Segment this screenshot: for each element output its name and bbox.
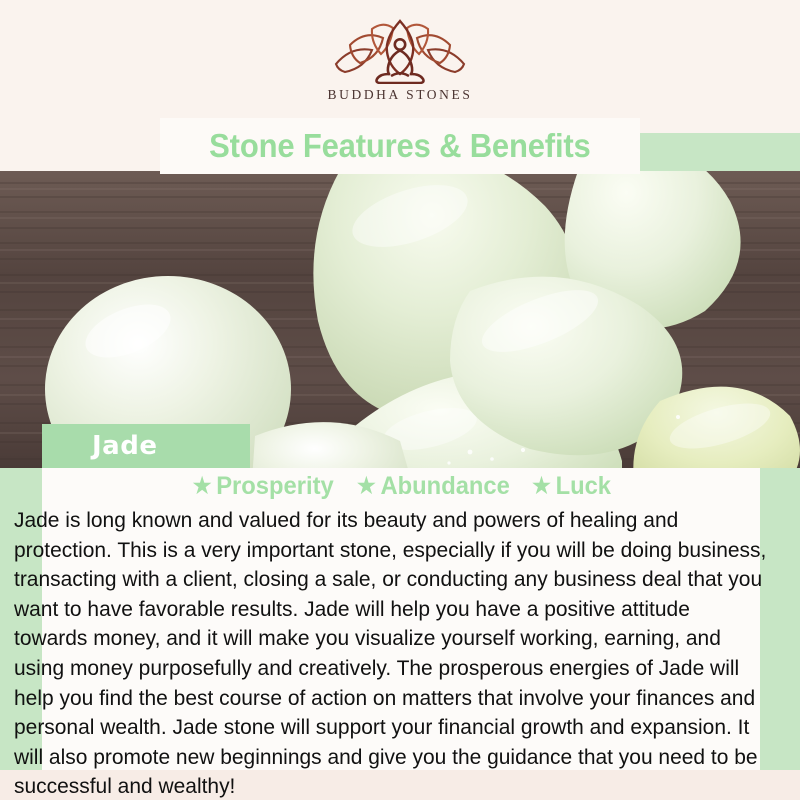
brand-header: BUDDHA STONES xyxy=(0,0,800,118)
star-icon: ★ xyxy=(532,475,551,497)
benefit-item-prosperity: ★ Prosperity xyxy=(193,472,334,501)
lotus-meditation-figure-icon xyxy=(325,18,475,84)
brand-logo: BUDDHA STONES xyxy=(0,18,800,103)
brand-name: BUDDHA STONES xyxy=(328,87,473,103)
decorative-green-bar-top-right xyxy=(614,133,800,173)
benefit-label: Prosperity xyxy=(216,472,333,501)
benefits-list: ★ Prosperity ★ Abundance ★ Luck xyxy=(42,468,760,504)
stone-info-poster: BUDDHA STONES Stone Features & Benefits … xyxy=(0,0,800,800)
benefit-label: Abundance xyxy=(381,472,510,501)
description-panel: ★ Prosperity ★ Abundance ★ Luck Jade is … xyxy=(42,468,760,770)
stone-name-label: Jade xyxy=(92,431,157,461)
stone-description-text: Jade is long known and valued for its be… xyxy=(14,506,767,800)
star-icon: ★ xyxy=(357,475,376,497)
benefit-item-luck: ★ Luck xyxy=(532,472,611,501)
benefit-label: Luck xyxy=(556,472,611,501)
stone-name-badge: Jade xyxy=(42,424,250,468)
star-icon: ★ xyxy=(193,475,212,497)
page-title-band: Stone Features & Benefits xyxy=(160,118,640,174)
page-title: Stone Features & Benefits xyxy=(209,127,590,165)
benefit-item-abundance: ★ Abundance xyxy=(357,472,510,501)
